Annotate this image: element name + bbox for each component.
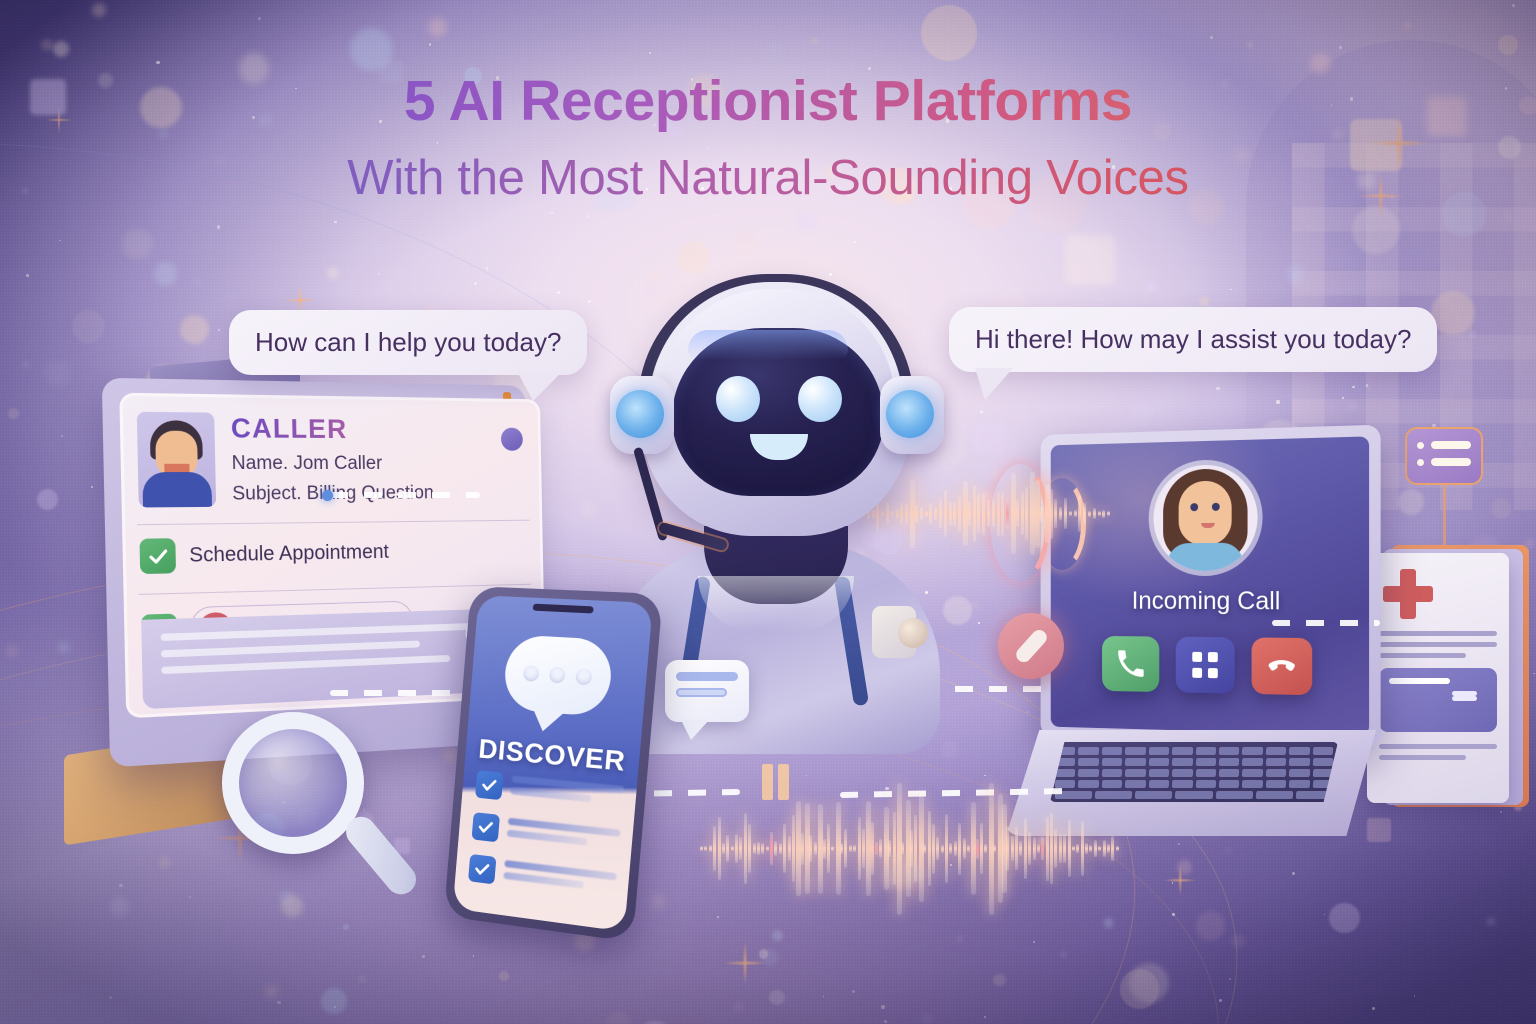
medical-cross-icon [1383, 569, 1433, 619]
call-status-label: Incoming Call [1051, 587, 1369, 617]
answer-call-button[interactable] [1102, 636, 1159, 692]
speech-bubble-left: How can I help you today? [229, 310, 587, 375]
microphone-badge-icon [998, 613, 1064, 679]
headphone-earcup-left-icon [610, 376, 674, 454]
badge-connector-line [1443, 485, 1446, 547]
caller-name-line: Name. Jom Caller [231, 453, 527, 475]
data-glyph-icon [762, 764, 789, 800]
list-item-text-placeholder [506, 816, 621, 854]
caller-avatar [1153, 464, 1257, 571]
checkbox-checked-icon[interactable] [472, 812, 500, 842]
avatar-shirt [1167, 543, 1244, 571]
headphone-earcup-right-icon [880, 376, 944, 454]
earcup-led [616, 390, 664, 438]
task-row-schedule-appointment[interactable]: Schedule Appointment [122, 520, 543, 588]
phone-notch [533, 604, 594, 614]
speech-bubble-right-text: Hi there! How may I assist you today? [975, 324, 1411, 354]
smartphone: DISCOVER [444, 586, 663, 942]
medical-record-document [1367, 553, 1509, 803]
connector-line [330, 492, 480, 498]
caller-status-dot-icon [501, 428, 523, 451]
avatar-eye [1212, 503, 1220, 511]
list-item-text-placeholder [510, 773, 625, 810]
phone-checklist [467, 770, 625, 915]
speech-bubble-tail [975, 368, 1013, 400]
page-subtitle: With the Most Natural-Sounding Voices [0, 150, 1536, 206]
checkbox-checked-icon[interactable] [468, 854, 496, 885]
list-item[interactable] [468, 854, 617, 900]
phone-icon [1116, 649, 1145, 679]
caller-card-title: CALLER [231, 413, 527, 446]
avatar-shirt [142, 472, 212, 507]
laptop: Incoming Call [1006, 430, 1376, 830]
document-text-line [1379, 755, 1466, 760]
document-text-line [1379, 744, 1497, 749]
magnifier-icon [222, 712, 364, 854]
avatar-eye [1190, 503, 1198, 511]
typing-dot [523, 665, 540, 682]
task-label: Schedule Appointment [189, 541, 389, 568]
list-item[interactable] [472, 812, 622, 856]
message-line [676, 672, 738, 681]
earcup-led [886, 390, 934, 438]
list-item[interactable] [475, 770, 625, 812]
speech-bubble-tail [517, 371, 563, 401]
phone-screen: DISCOVER [453, 595, 653, 931]
connector-endpoint-icon [322, 490, 333, 501]
grid-icon [1192, 652, 1218, 678]
message-line [676, 688, 727, 697]
typing-dot [549, 667, 566, 684]
chat-bubble-icon [502, 634, 614, 717]
typing-dot [575, 668, 592, 685]
page-title: 5 AI Receptionist Platforms [0, 68, 1536, 134]
laptop-base [1006, 730, 1376, 836]
checkbox-checked-icon[interactable] [475, 770, 504, 800]
speech-bubble-left-text: How can I help you today? [255, 327, 561, 357]
placeholder-bar [161, 622, 500, 641]
document-text-line [1379, 642, 1497, 647]
robot-arm-device [872, 606, 916, 658]
document-highlight-block [1379, 668, 1497, 732]
call-action-buttons [1051, 635, 1369, 696]
medical-documents [1375, 545, 1535, 815]
placeholder-bar [161, 655, 450, 674]
decline-call-button[interactable] [1252, 637, 1313, 695]
magnifier-lens [222, 712, 364, 854]
caller-avatar [137, 412, 216, 508]
avatar-face [1179, 480, 1232, 545]
robot-arm-lens [898, 618, 928, 648]
message-bubble-icon [665, 660, 749, 722]
placeholder-bar [161, 641, 420, 658]
phone-hangup-icon [1267, 651, 1297, 682]
checkbox-checked-icon[interactable] [139, 538, 176, 574]
document-text-line [1379, 653, 1466, 658]
laptop-keyboard[interactable] [1050, 742, 1338, 802]
poster-title-block: 5 AI Receptionist Platforms With the Mos… [0, 68, 1536, 206]
laptop-lid: Incoming Call [1041, 425, 1381, 748]
list-item-text-placeholder [503, 858, 617, 898]
checklist-badge-icon [1405, 427, 1483, 485]
connector-line [1272, 620, 1380, 626]
laptop-screen: Incoming Call [1051, 436, 1369, 735]
poster-canvas: 5 AI Receptionist Platforms With the Mos… [0, 0, 1536, 1024]
speech-bubble-right: Hi there! How may I assist you today? [949, 307, 1437, 372]
keypad-button[interactable] [1176, 637, 1235, 694]
document-text-line [1379, 631, 1497, 636]
